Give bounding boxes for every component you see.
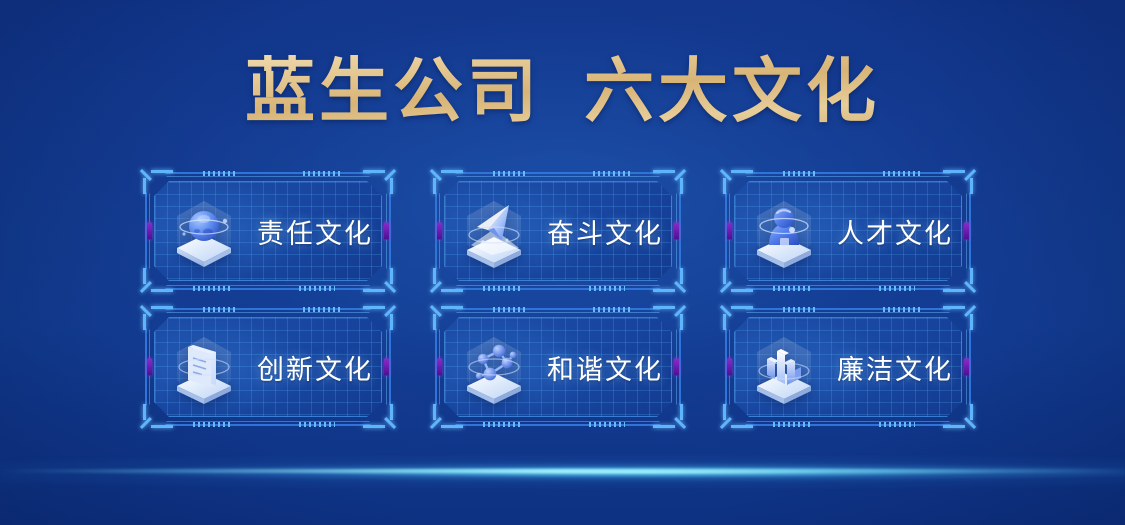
culture-card-label: 廉洁文化 (837, 348, 953, 387)
molecule-network-icon (457, 329, 531, 405)
culture-card-2[interactable]: 奋斗文化 (435, 172, 681, 290)
document-page-icon (167, 329, 241, 405)
card-body: 奋斗文化 (435, 172, 681, 290)
card-body: 人才文化 (725, 172, 971, 290)
poster-stage: 蓝生公司 六大文化 (0, 0, 1125, 525)
culture-card-4[interactable]: 创新文化 (145, 308, 391, 426)
culture-card-5[interactable]: 和谐文化 (435, 308, 681, 426)
card-body: 创新文化 (145, 308, 391, 426)
person-avatar-icon (747, 193, 821, 269)
culture-card-grid: 责任文化 (145, 172, 973, 426)
rocket-arrow-icon (457, 193, 531, 269)
culture-card-label: 人才文化 (837, 212, 953, 251)
culture-card-1[interactable]: 责任文化 (145, 172, 391, 290)
culture-card-6[interactable]: 廉洁文化 (725, 308, 971, 426)
culture-card-label: 创新文化 (257, 348, 373, 387)
culture-card-3[interactable]: 人才文化 (725, 172, 971, 290)
horizon-glow (0, 455, 1125, 489)
card-body: 廉洁文化 (725, 308, 971, 426)
page-title: 蓝生公司 六大文化 (0, 52, 1125, 134)
horizon-glow-core (0, 469, 1125, 473)
culture-card-label: 和谐文化 (547, 348, 663, 387)
card-body: 和谐文化 (435, 308, 681, 426)
bar-chart-icon (747, 329, 821, 405)
culture-card-label: 奋斗文化 (547, 212, 663, 251)
card-body: 责任文化 (145, 172, 391, 290)
planet-sphere-icon (167, 193, 241, 269)
culture-card-label: 责任文化 (257, 212, 373, 251)
